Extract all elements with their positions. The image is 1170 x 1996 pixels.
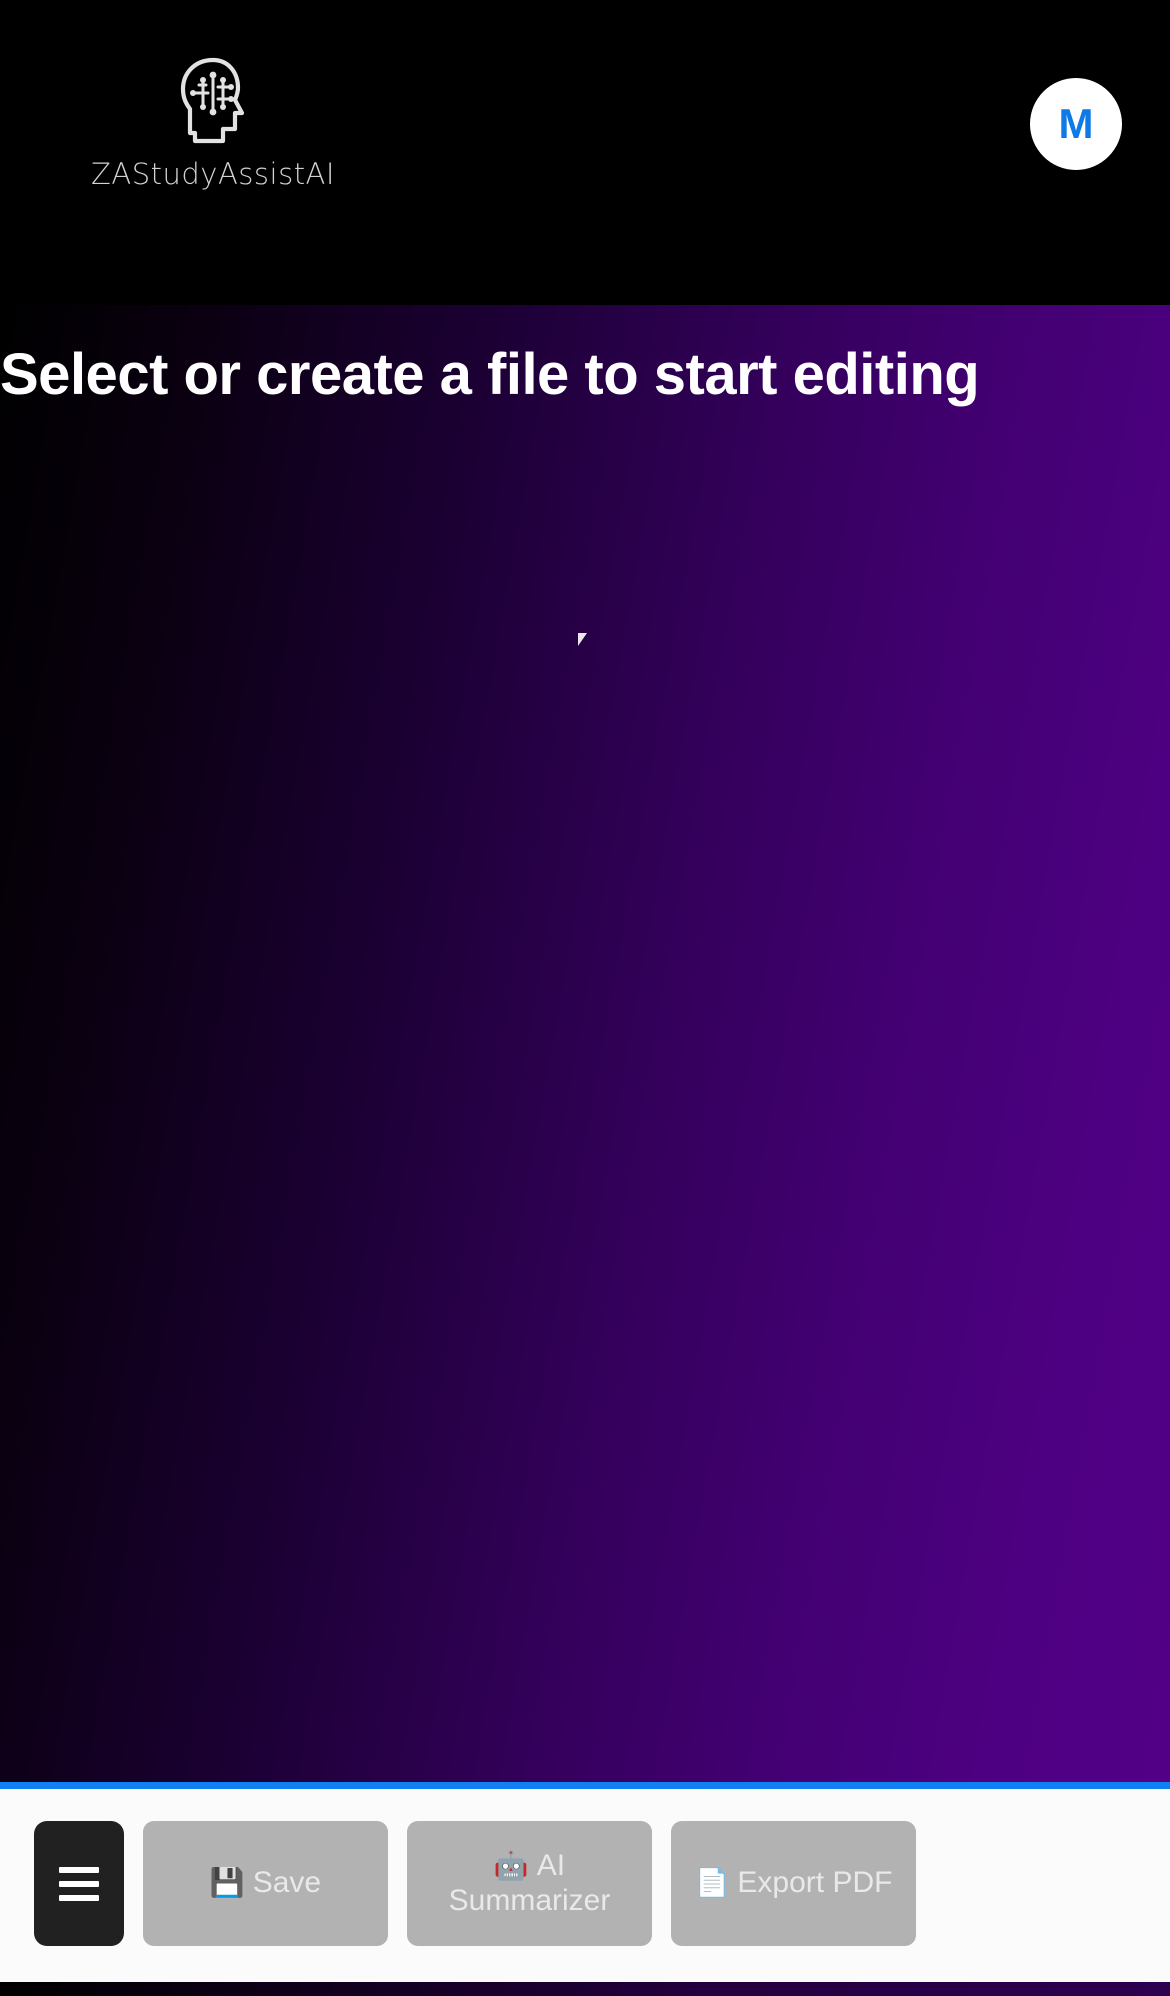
document-page-icon: 📄 bbox=[695, 1866, 730, 1899]
export-pdf-button-label: Export PDF bbox=[737, 1866, 892, 1899]
hamburger-menu-icon bbox=[59, 1867, 99, 1901]
menu-button[interactable] bbox=[34, 1821, 124, 1946]
toolbar-divider bbox=[0, 1782, 1170, 1789]
save-button-label: Save bbox=[253, 1866, 321, 1899]
brain-head-circuit-icon bbox=[175, 55, 251, 147]
robot-icon: 🤖 bbox=[494, 1849, 529, 1882]
bottom-edge-strip bbox=[0, 1982, 1170, 1996]
app-header: ZAStudyAssistAI M bbox=[0, 0, 1170, 305]
brand-name: ZAStudyAssistAI bbox=[91, 157, 335, 191]
ai-summarizer-button[interactable]: 🤖AI Summarizer bbox=[407, 1821, 652, 1946]
export-pdf-button[interactable]: 📄Export PDF bbox=[671, 1821, 916, 1946]
save-button[interactable]: 💾Save bbox=[143, 1821, 388, 1946]
empty-state-title: Select or create a file to start editing bbox=[0, 341, 1010, 408]
avatar-initial: M bbox=[1059, 103, 1094, 145]
ai-summarizer-button-label: AI Summarizer bbox=[449, 1849, 611, 1917]
app-root: ZAStudyAssistAI M Select or create a fil… bbox=[0, 0, 1170, 1996]
editor-main-area: Select or create a file to start editing bbox=[0, 305, 1170, 1782]
floppy-disk-icon: 💾 bbox=[210, 1866, 245, 1899]
clipped-glyph-artifact bbox=[578, 631, 590, 649]
bottom-toolbar: 💾Save 🤖AI Summarizer 📄Export PDF bbox=[0, 1789, 1170, 1982]
brand-logo[interactable]: ZAStudyAssistAI bbox=[68, 55, 358, 191]
avatar[interactable]: M bbox=[1030, 78, 1122, 170]
